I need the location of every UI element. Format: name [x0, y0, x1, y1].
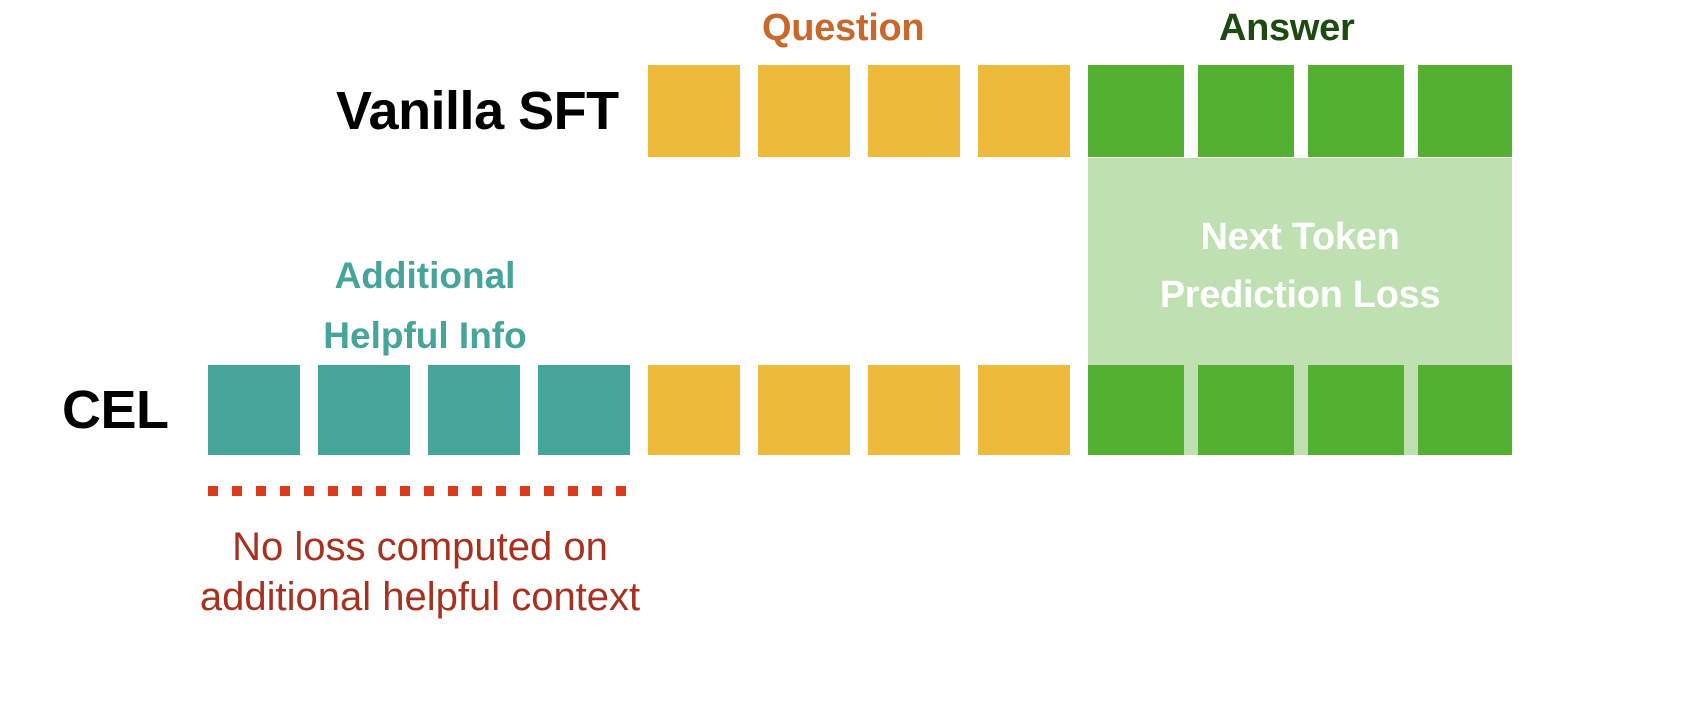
caption-line2: additional helpful context: [130, 572, 710, 622]
token-box-answer: [1308, 65, 1404, 157]
token-box-question: [758, 65, 850, 157]
token-box-question: [648, 65, 740, 157]
loss-band-line2: Prediction Loss: [1160, 274, 1441, 316]
token-box-additional-helpful-info: [538, 365, 630, 455]
token-box-answer: [1088, 365, 1184, 455]
caption-line1: No loss computed on: [130, 522, 710, 572]
row-label-cel: CEL: [62, 379, 169, 441]
heading-question: Question: [762, 6, 924, 50]
heading-additional-helpful-info: Additional Helpful Info: [300, 246, 550, 366]
token-box-additional-helpful-info: [318, 365, 410, 455]
row-label-vanilla-sft: Vanilla SFT: [336, 80, 619, 142]
token-box-answer: [1198, 365, 1294, 455]
next-token-prediction-loss-label: Next Token Prediction Loss: [1088, 208, 1512, 324]
token-box-additional-helpful-info: [428, 365, 520, 455]
heading-additional-helpful-info-line2: Helpful Info: [323, 315, 526, 356]
token-box-question: [648, 365, 740, 455]
token-box-additional-helpful-info: [208, 365, 300, 455]
figure-canvas: Question Answer Additional Helpful Info …: [0, 0, 1700, 706]
token-box-question: [758, 365, 850, 455]
dotted-rule: [208, 486, 630, 496]
loss-band-line1: Next Token: [1200, 216, 1399, 258]
token-box-answer: [1198, 65, 1294, 157]
token-box-question: [868, 65, 960, 157]
heading-answer: Answer: [1219, 6, 1354, 50]
token-box-question: [978, 65, 1070, 157]
token-box-answer: [1308, 365, 1404, 455]
token-box-answer: [1418, 65, 1512, 157]
token-box-answer: [1418, 365, 1512, 455]
token-box-question: [868, 365, 960, 455]
token-box-question: [978, 365, 1070, 455]
heading-additional-helpful-info-line1: Additional: [335, 255, 516, 296]
token-box-answer: [1088, 65, 1184, 157]
caption-no-loss-computed: No loss computed on additional helpful c…: [130, 522, 710, 622]
